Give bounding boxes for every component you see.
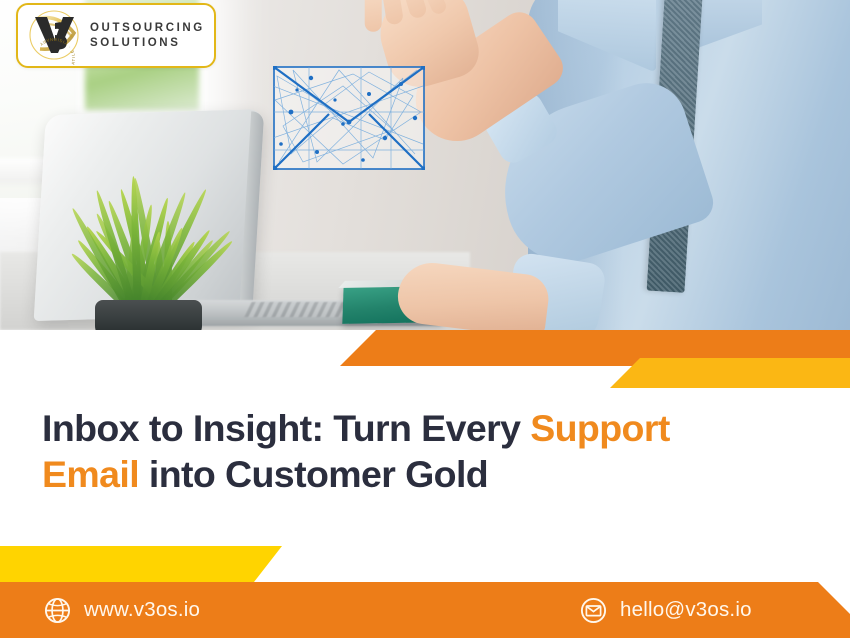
headline-accent-email: Email (42, 453, 139, 495)
accent-wedge-yellow (0, 546, 282, 582)
brand-line-1: OUTSOURCING (90, 21, 205, 35)
brand-line-2: SOLUTIONS (90, 36, 205, 50)
businessman (470, 0, 850, 330)
brand-wordmark: OUTSOURCING SOLUTIONS (90, 21, 205, 50)
v3-logo-icon: VALUE · VERSATILE · VISIONARY (24, 7, 84, 65)
website-label: www.v3os.io (84, 598, 200, 622)
headline-part3: into Customer Gold (139, 453, 488, 495)
headline-accent-support: Support (530, 407, 670, 449)
envelope-circle-icon (580, 597, 607, 624)
email-label: hello@v3os.io (620, 598, 752, 622)
marketing-banner: Inbox to Insight: Turn Every Support Ema… (0, 0, 850, 638)
plant-leaves (78, 183, 218, 308)
accent-bar-amber (610, 358, 850, 388)
page-title: Inbox to Insight: Turn Every Support Ema… (42, 406, 772, 498)
envelope-wireframe-graphic (273, 66, 425, 170)
footer-bar: www.v3os.io hello@v3os.io (0, 582, 850, 638)
globe-icon (44, 597, 71, 624)
finger-index (365, 0, 382, 32)
contact-email[interactable]: hello@v3os.io (580, 582, 752, 638)
plant-pot (95, 300, 202, 330)
brand-logo[interactable]: VALUE · VERSATILE · VISIONARY OUTSOURCIN… (16, 3, 216, 68)
headline-part1: Inbox to Insight: Turn Every (42, 407, 530, 449)
contact-website[interactable]: www.v3os.io (44, 582, 200, 638)
envelope-icon (273, 66, 425, 170)
